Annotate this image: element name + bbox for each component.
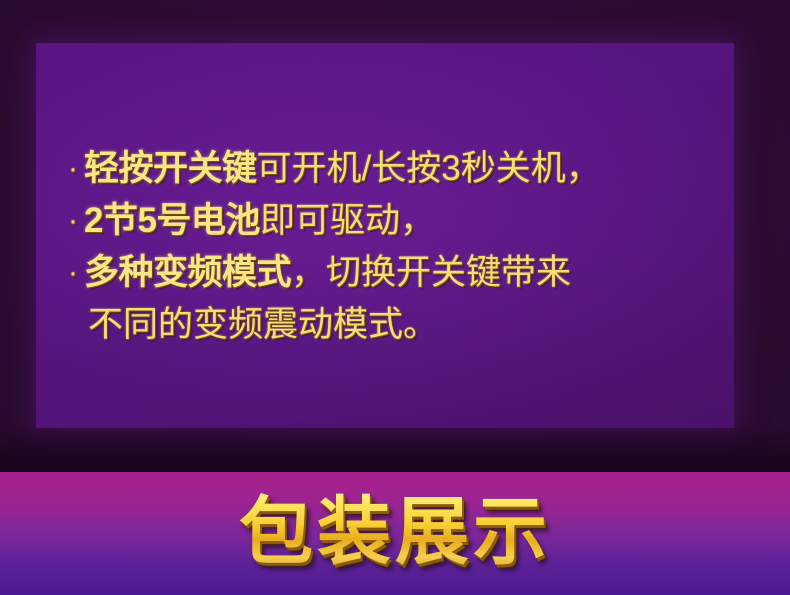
feature-line-4-rest: 不同的变频震动模式。 bbox=[88, 305, 438, 344]
feature-line-4: 不同的变频震动模式。 bbox=[68, 299, 728, 351]
feature-line-1-rest: 可开机/长按3秒关机， bbox=[257, 149, 601, 188]
bullet-dot-icon: · bbox=[68, 247, 84, 299]
bullet-dot-icon: · bbox=[68, 143, 84, 195]
feature-bullet-list: ·轻按开关键可开机/长按3秒关机， ·2节5号电池即可驱动， ·多种变频模式，切… bbox=[68, 143, 728, 351]
product-detail-section: ·轻按开关键可开机/长按3秒关机， ·2节5号电池即可驱动， ·多种变频模式，切… bbox=[0, 0, 790, 595]
feature-line-3-lead: 多种变频模式 bbox=[84, 253, 291, 292]
banner-title: 包装展示 bbox=[0, 484, 790, 580]
bullet-dot-icon: · bbox=[68, 195, 84, 247]
feature-line-3-rest: ，切换开关键带来 bbox=[291, 253, 571, 292]
feature-line-3: ·多种变频模式，切换开关键带来 bbox=[68, 247, 728, 299]
feature-line-2-lead: 2节5号电池 bbox=[84, 201, 260, 240]
feature-line-2-rest: 即可驱动， bbox=[260, 201, 435, 240]
feature-line-1: ·轻按开关键可开机/长按3秒关机， bbox=[68, 143, 728, 195]
feature-line-1-lead: 轻按开关键 bbox=[84, 149, 257, 188]
feature-line-2: ·2节5号电池即可驱动， bbox=[68, 195, 728, 247]
section-banner: 包装展示 包装展示 bbox=[0, 472, 790, 595]
